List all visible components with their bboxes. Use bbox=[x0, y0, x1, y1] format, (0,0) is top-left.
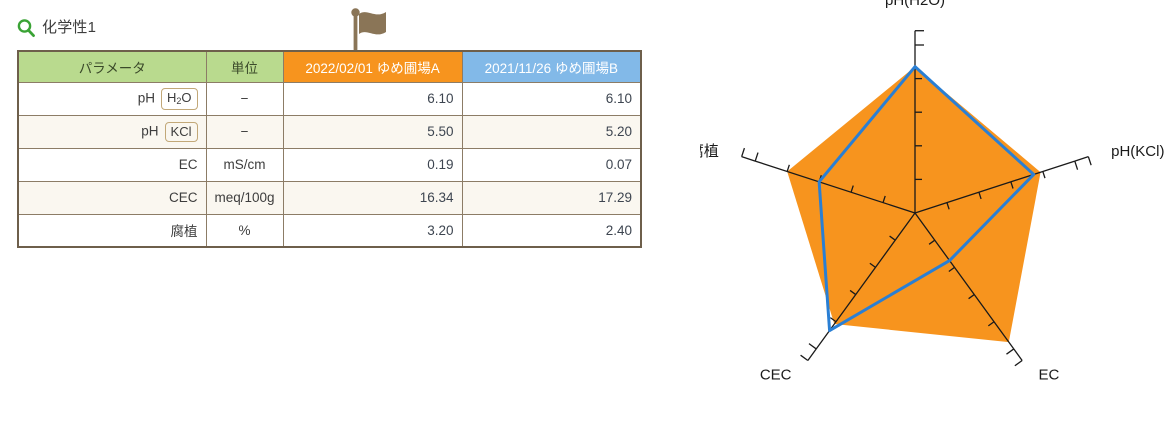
row-unit: meq/100g bbox=[206, 181, 283, 214]
column-header-parameter[interactable]: パラメータ bbox=[18, 51, 206, 82]
row-label-ph-kcl: pHKCl bbox=[18, 115, 206, 148]
column-header-unit[interactable]: 単位 bbox=[206, 51, 283, 82]
row-unit: % bbox=[206, 214, 283, 247]
table-row: pHKCl − 5.50 5.20 bbox=[18, 115, 641, 148]
row-unit: − bbox=[206, 115, 283, 148]
radar-label-4: 腐植 bbox=[700, 142, 719, 160]
row-unit: − bbox=[206, 82, 283, 115]
chemistry-table: パラメータ 単位 2022/02/01 ゆめ圃場A 2021/11/26 ゆめ圃… bbox=[17, 50, 642, 248]
flag-icon[interactable] bbox=[348, 6, 392, 52]
cell-field-a: 0.19 bbox=[283, 148, 462, 181]
section-header: 化学性1 bbox=[16, 16, 96, 40]
row-unit: mS/cm bbox=[206, 148, 283, 181]
badge-h2o: H2O bbox=[161, 88, 198, 110]
chemistry-panel: 化学性1 パラメータ 単位 2022/02/01 ゆめ圃場A 2021/11/2… bbox=[0, 0, 700, 434]
cell-field-a: 16.34 bbox=[283, 181, 462, 214]
radar-chart-panel: pH(H2O)pH(KCl)ECCEC腐植 bbox=[700, 0, 1175, 434]
table-header-row: パラメータ 単位 2022/02/01 ゆめ圃場A 2021/11/26 ゆめ圃… bbox=[18, 51, 641, 82]
cell-field-b: 17.29 bbox=[462, 181, 641, 214]
row-label-ec: EC bbox=[18, 148, 206, 181]
param-name: pH bbox=[141, 123, 158, 138]
search-icon[interactable] bbox=[16, 18, 36, 38]
row-label-humus: 腐植 bbox=[18, 214, 206, 247]
row-label-ph-h2o: pHH2O bbox=[18, 82, 206, 115]
table-row: CEC meq/100g 16.34 17.29 bbox=[18, 181, 641, 214]
cell-field-a: 3.20 bbox=[283, 214, 462, 247]
row-label-cec: CEC bbox=[18, 181, 206, 214]
table-row: EC mS/cm 0.19 0.07 bbox=[18, 148, 641, 181]
radar-label-3: CEC bbox=[760, 367, 792, 384]
column-header-field-b[interactable]: 2021/11/26 ゆめ圃場B bbox=[462, 51, 641, 82]
page-title: 化学性1 bbox=[42, 18, 96, 38]
radar-label-1: pH(KCl) bbox=[1111, 143, 1164, 160]
cell-field-b: 6.10 bbox=[462, 82, 641, 115]
column-header-field-a[interactable]: 2022/02/01 ゆめ圃場A bbox=[283, 51, 462, 82]
table-row: pHH2O − 6.10 6.10 bbox=[18, 82, 641, 115]
cell-field-a: 6.10 bbox=[283, 82, 462, 115]
table-row: 腐植 % 3.20 2.40 bbox=[18, 214, 641, 247]
badge-kcl: KCl bbox=[165, 122, 198, 142]
cell-field-b: 5.20 bbox=[462, 115, 641, 148]
cell-field-a: 5.50 bbox=[283, 115, 462, 148]
param-name: pH bbox=[138, 90, 155, 105]
radar-chart: pH(H2O)pH(KCl)ECCEC腐植 bbox=[700, 0, 1175, 434]
cell-field-b: 2.40 bbox=[462, 214, 641, 247]
radar-label-0: pH(H2O) bbox=[885, 0, 945, 9]
cell-field-b: 0.07 bbox=[462, 148, 641, 181]
radar-label-2: EC bbox=[1039, 367, 1060, 384]
